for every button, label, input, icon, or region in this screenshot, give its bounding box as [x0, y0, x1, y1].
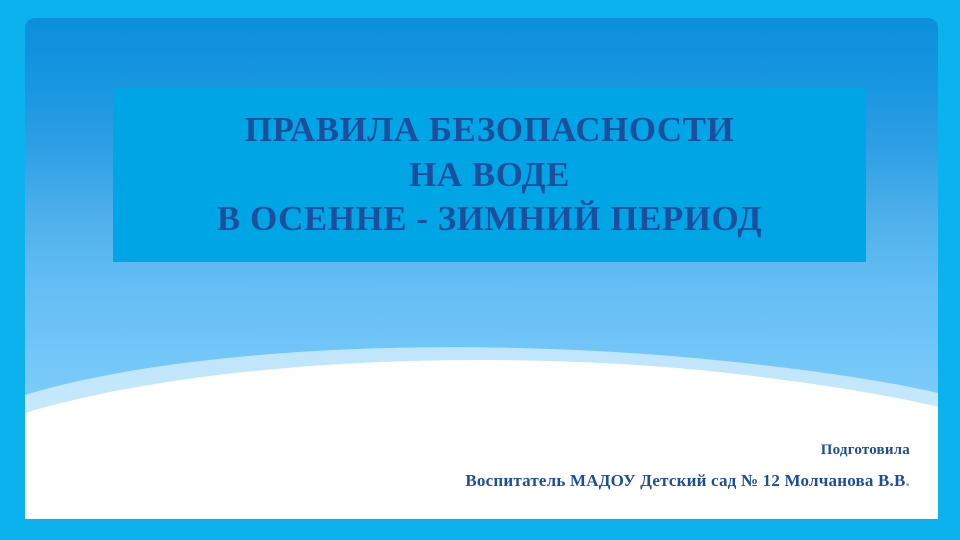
title-banner: Правила безопасности на воде в осенне - … — [113, 88, 866, 262]
wave-graphic — [25, 339, 938, 519]
author-trailing-dot: . — [906, 471, 910, 490]
presentation-slide: Подготовила Воспитатель МАДОУ Детский са… — [0, 0, 960, 540]
prepared-by-label: Подготовила — [465, 442, 910, 459]
author-line: Воспитатель МАДОУ Детский сад № 12 Молча… — [465, 472, 910, 491]
author-name: Воспитатель МАДОУ Детский сад № 12 Молча… — [465, 471, 905, 490]
credits-block: Подготовила Воспитатель МАДОУ Детский са… — [465, 442, 910, 491]
slide-title: Правила безопасности на воде в осенне - … — [217, 108, 762, 242]
